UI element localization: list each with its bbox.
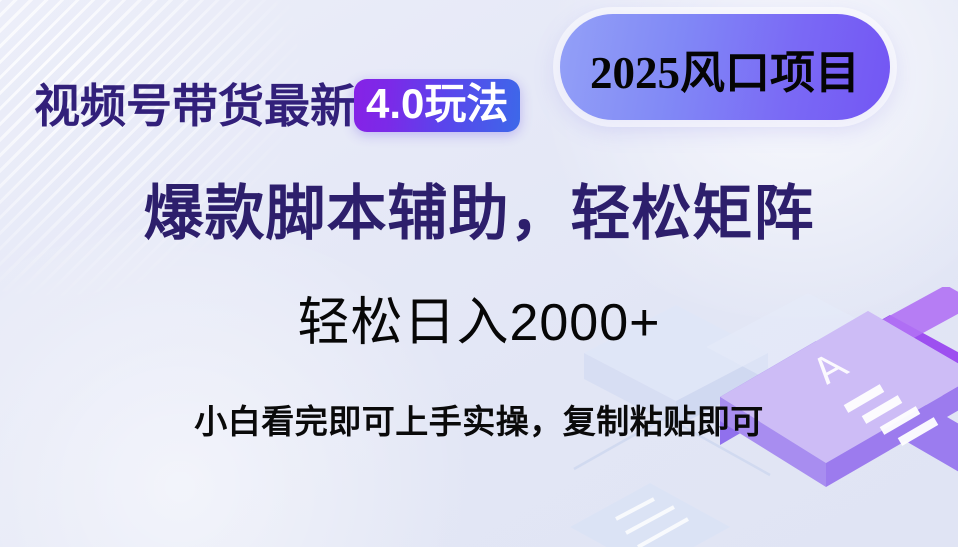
headline-text: 爆款脚本辅助，轻松矩阵 xyxy=(0,182,958,247)
title-line: 视频号带货最新 4.0玩法 xyxy=(34,79,520,132)
title-prefix-text: 视频号带货最新 xyxy=(34,83,356,129)
version-badge: 4.0玩法 xyxy=(354,79,520,132)
footnote-text: 小白看完即可上手实操，复制粘贴即可 xyxy=(0,404,958,440)
subheadline-text: 轻松日入2000+ xyxy=(0,295,958,352)
corner-tag-text: 2025风口项目 xyxy=(560,36,890,100)
promo-poster: A 2025风口项目 视频号带货最新 4.0玩法 爆款脚本辅助，轻松矩阵 轻松日… xyxy=(0,0,958,547)
poster-text-content: 2025风口项目 视频号带货最新 4.0玩法 爆款脚本辅助，轻松矩阵 轻松日入2… xyxy=(0,0,958,547)
